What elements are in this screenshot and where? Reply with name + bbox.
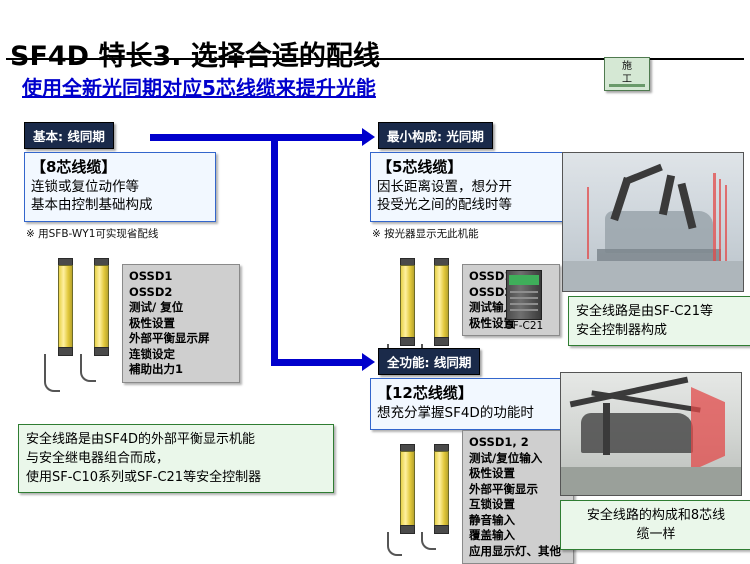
box-5core-line2: 投受光之间的配线时等 bbox=[371, 196, 567, 214]
callout-left: 安全线路是由SF4D的外部平衡显示机能 与安全继电器组合而成， 使用SF-C10… bbox=[18, 424, 334, 493]
callout-right-top-line1: 安全线路是由SF-C21等 bbox=[576, 302, 744, 321]
photo-robot-cell-bottom bbox=[560, 372, 742, 496]
spec-12-6: 覆盖输入 bbox=[469, 528, 567, 544]
box-12core: 【12芯线缆】 想充分掌握SF4D的功能时 bbox=[370, 378, 568, 430]
spec-12-5: 静音输入 bbox=[469, 513, 567, 529]
callout-right-bottom-line2: 缆一样 bbox=[568, 525, 744, 544]
section-header-full: 全功能: 线同期 bbox=[378, 348, 480, 375]
callout-right-top: 安全线路是由SF-C21等 安全控制器构成 bbox=[568, 296, 750, 346]
spec-8-4: 外部平衡显示屏 bbox=[129, 331, 233, 347]
spec-12-4: 互锁设置 bbox=[469, 497, 567, 513]
spec-12-3: 外部平衡显示 bbox=[469, 482, 567, 498]
callout-right-bottom: 安全线路的构成和8芯线 缆一样 bbox=[560, 500, 750, 550]
spec-12-0: OSSD1, 2 bbox=[469, 435, 567, 451]
box-8core-line1: 连锁或复位动作等 bbox=[25, 177, 215, 196]
box-8core: 【8芯线缆】 连锁或复位动作等 基本由控制基础构成 bbox=[24, 152, 216, 222]
box-8core-line2: 基本由控制基础构成 bbox=[25, 196, 215, 214]
title-bar: SF4D 特长3. 选择合适的配线 bbox=[0, 16, 750, 56]
box-5core: 【5芯线缆】 因长距离设置，想分开 投受光之间的配线时等 bbox=[370, 152, 568, 222]
spec-8-2: 测试/ 复位 bbox=[129, 300, 233, 316]
spec-8-0: OSSD1 bbox=[129, 269, 233, 285]
spec-8-3: 极性设置 bbox=[129, 316, 233, 332]
construction-tag-line1: 施 bbox=[605, 60, 649, 73]
spec-12-2: 极性设置 bbox=[469, 466, 567, 482]
box-5core-title: 【5芯线缆】 bbox=[371, 153, 567, 177]
arrow-branch-bottom bbox=[271, 359, 363, 366]
controller-label: SF-C21 bbox=[506, 320, 543, 332]
subtitle: 使用全新光同期对应5芯线缆来提升光能 bbox=[22, 72, 376, 101]
arrow-head-top bbox=[362, 128, 375, 146]
box-5core-line1: 因长距离设置，想分开 bbox=[371, 177, 567, 196]
arrow-head-bottom bbox=[362, 353, 375, 371]
spec-12-7: 应用显示灯、其他 bbox=[469, 544, 567, 560]
callout-left-line3: 使用SF-C10系列或SF-C21等安全控制器 bbox=[26, 468, 326, 487]
construction-tag: 施 工 bbox=[604, 57, 650, 91]
note-basic: ※ 用SFB-WY1可实现省配线 bbox=[26, 226, 158, 241]
callout-right-bottom-line1: 安全线路的构成和8芯线 bbox=[568, 506, 744, 525]
arrow-trunk-vertical bbox=[271, 134, 278, 366]
callout-right-top-line2: 安全控制器构成 bbox=[576, 321, 744, 340]
arrow-trunk-horizontal bbox=[150, 134, 278, 141]
spec-8-1: OSSD2 bbox=[129, 285, 233, 301]
construction-tag-bar bbox=[609, 84, 645, 87]
box-8core-title: 【8芯线缆】 bbox=[25, 153, 215, 177]
spec-8-6: 補助出力1 bbox=[129, 362, 233, 378]
page-title: SF4D 特长3. 选择合适的配线 bbox=[10, 34, 380, 73]
spec-12-1: 测试/复位输入 bbox=[469, 451, 567, 467]
section-header-minimal: 最小构成: 光同期 bbox=[378, 122, 493, 149]
section-header-basic: 基本: 线同期 bbox=[24, 122, 114, 149]
box-12core-line1: 想充分掌握SF4D的功能时 bbox=[371, 403, 567, 422]
controller-sf-c21 bbox=[506, 270, 542, 320]
spec-8-5: 连锁设定 bbox=[129, 347, 233, 363]
callout-left-line2: 与安全继电器组合而成， bbox=[26, 449, 326, 468]
callout-left-line1: 安全线路是由SF4D的外部平衡显示机能 bbox=[26, 430, 326, 449]
note-minimal: ※ 按光器显示无此机能 bbox=[372, 226, 479, 241]
box-12core-title: 【12芯线缆】 bbox=[371, 379, 567, 403]
spec-box-12core: OSSD1, 2 测试/复位输入 极性设置 外部平衡显示 互锁设置 静音输入 覆… bbox=[462, 430, 574, 564]
photo-robot-cell-top bbox=[562, 152, 744, 292]
arrow-branch-top bbox=[271, 134, 363, 141]
spec-box-8core: OSSD1 OSSD2 测试/ 复位 极性设置 外部平衡显示屏 连锁设定 補助出… bbox=[122, 264, 240, 383]
